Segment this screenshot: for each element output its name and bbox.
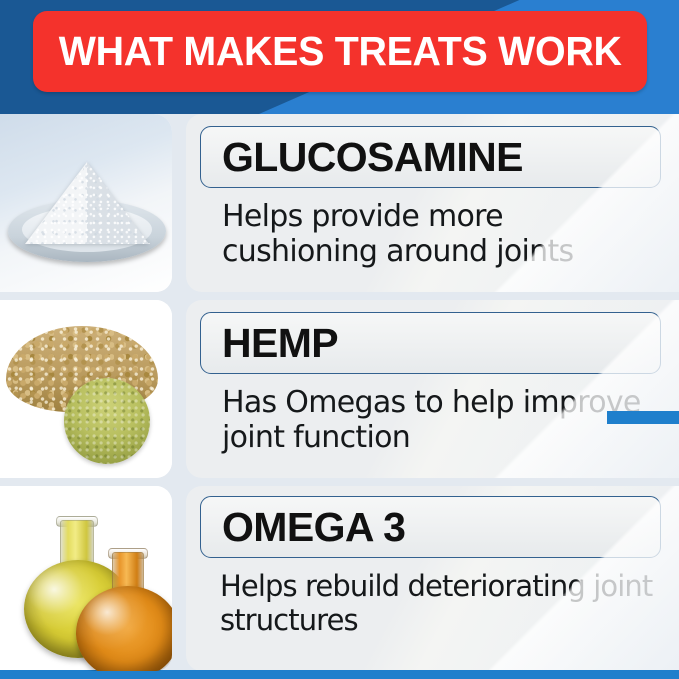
hemp-powder-mound-shape xyxy=(64,378,150,464)
hemp-seeds-image xyxy=(0,300,172,478)
ingredient-text-panel: HEMP Has Omegas to help improve joint fu… xyxy=(186,300,679,478)
ingredient-name-box: HEMP xyxy=(200,312,661,374)
flask-body-shape xyxy=(76,586,172,671)
ingredient-name-box: OMEGA 3 xyxy=(200,496,661,558)
ingredient-text-panel: GLUCOSAMINE Helps provide more cushionin… xyxy=(186,114,679,292)
ingredient-photo-panel xyxy=(0,300,172,478)
blue-accent-bar xyxy=(607,411,679,424)
ingredient-photo-panel xyxy=(0,486,172,671)
glucosamine-powder-image xyxy=(0,114,172,292)
ingredient-description: Has Omegas to help improve joint functio… xyxy=(222,386,659,456)
header-title-plate: WHAT MAKES TREATS WORK xyxy=(33,11,647,92)
ingredient-list: GLUCOSAMINE Helps provide more cushionin… xyxy=(0,114,679,671)
ingredient-description: Helps rebuild deteriorating joint struct… xyxy=(220,570,659,637)
ingredient-row-hemp: HEMP Has Omegas to help improve joint fu… xyxy=(0,300,679,478)
ingredient-row-omega-3: OMEGA 3 Helps rebuild deteriorating join… xyxy=(0,486,679,671)
infographic-root: WHAT MAKES TREATS WORK GLUCOSAMINE H xyxy=(0,0,679,679)
ingredient-photo-panel xyxy=(0,114,172,292)
ingredient-row-glucosamine: GLUCOSAMINE Helps provide more cushionin… xyxy=(0,114,679,292)
amber-oil-flask-shape xyxy=(74,538,172,671)
ingredient-text-panel: OMEGA 3 Helps rebuild deteriorating join… xyxy=(186,486,679,671)
ingredient-name-box: GLUCOSAMINE xyxy=(200,126,661,188)
ingredient-description: Helps provide more cushioning around joi… xyxy=(222,200,659,270)
ingredient-name: GLUCOSAMINE xyxy=(201,137,523,178)
omega-oil-flasks-image xyxy=(0,486,172,671)
bottom-blue-strip xyxy=(0,670,679,679)
ingredient-name: HEMP xyxy=(201,323,338,364)
ingredient-name: OMEGA 3 xyxy=(201,507,405,548)
page-title: WHAT MAKES TREATS WORK xyxy=(59,31,622,72)
